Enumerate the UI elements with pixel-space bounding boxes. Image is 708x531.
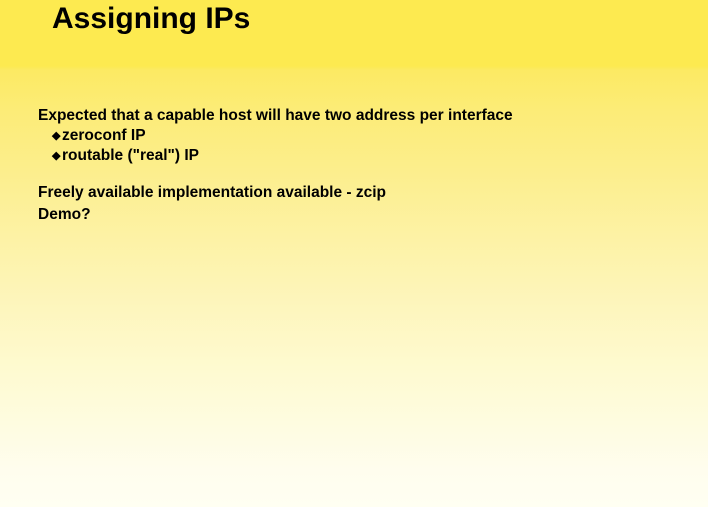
slide-title: Assigning IPs bbox=[52, 2, 250, 36]
slide-body: Expected that a capable host will have t… bbox=[38, 105, 688, 225]
diamond-bullet-icon: ◆ bbox=[52, 126, 62, 146]
slide-background-gradient bbox=[0, 0, 708, 507]
presentation-slide: Assigning IPs Expected that a capable ho… bbox=[0, 0, 708, 531]
bullet-list: ◆ zeroconf IP ◆ routable ("real") IP bbox=[38, 126, 688, 166]
body-paragraph-intro: Expected that a capable host will have t… bbox=[38, 105, 688, 126]
diamond-bullet-icon: ◆ bbox=[52, 146, 62, 166]
body-paragraph-group: Freely available implementation availabl… bbox=[38, 182, 688, 225]
list-item-label: zeroconf IP bbox=[62, 127, 146, 144]
list-item: ◆ zeroconf IP bbox=[38, 126, 688, 146]
body-paragraph-implementation: Freely available implementation availabl… bbox=[38, 182, 688, 203]
slide-background-footer bbox=[0, 507, 708, 531]
list-item: ◆ routable ("real") IP bbox=[38, 146, 688, 166]
list-item-label: routable ("real") IP bbox=[62, 147, 199, 164]
body-paragraph-demo: Demo? bbox=[38, 204, 688, 225]
